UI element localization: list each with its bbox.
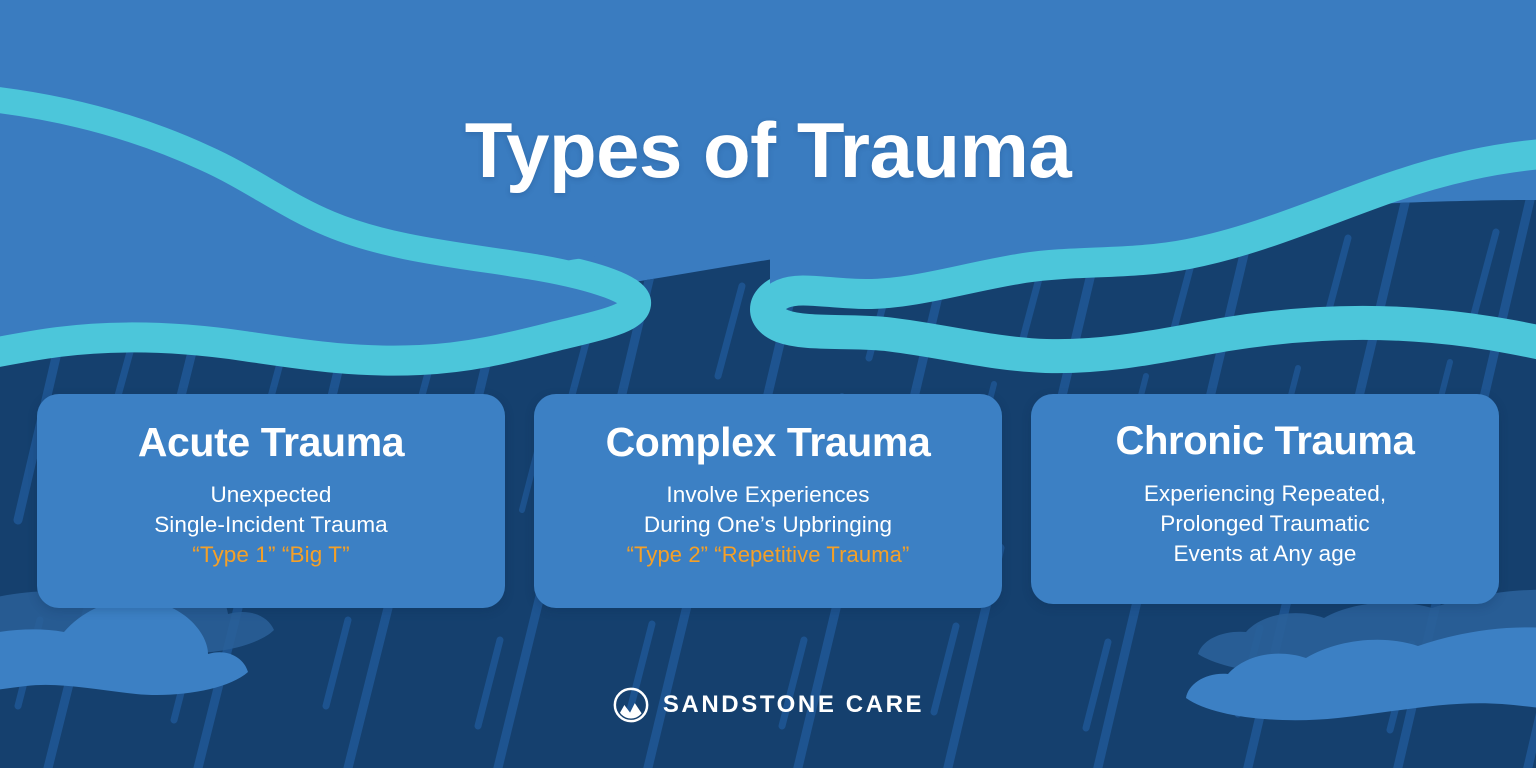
card-line: Events at Any age	[1047, 539, 1483, 569]
card-chronic-trauma: Chronic Trauma Experiencing Repeated, Pr…	[1031, 394, 1499, 604]
card-line: Experiencing Repeated,	[1047, 479, 1483, 509]
card-line: Unexpected	[53, 480, 489, 510]
card-acute-trauma: Acute Trauma Unexpected Single-Incident …	[37, 394, 505, 608]
infographic-canvas: Types of Trauma Acute Trauma Unexpected …	[0, 0, 1536, 768]
card-title: Complex Trauma	[550, 420, 986, 464]
brand-logo: SANDSTONE CARE	[0, 686, 1536, 724]
brand-name: SANDSTONE CARE	[663, 693, 924, 717]
card-line-accent: “Type 1” “Big T”	[53, 540, 489, 570]
card-line: During One’s Upbringing	[550, 510, 986, 540]
card-line-accent: “Type 2” “Repetitive Trauma”	[550, 540, 986, 569]
card-complex-trauma: Complex Trauma Involve Experiences Durin…	[534, 394, 1002, 608]
page-title: Types of Trauma	[0, 110, 1536, 192]
card-line: Single-Incident Trauma	[53, 510, 489, 540]
card-line: Involve Experiences	[550, 480, 986, 510]
card-title: Acute Trauma	[53, 420, 489, 464]
card-line: Prolonged Traumatic	[1047, 509, 1483, 539]
mountain-circle-icon	[612, 686, 650, 724]
trauma-type-card-row: Acute Trauma Unexpected Single-Incident …	[37, 394, 1499, 610]
card-title: Chronic Trauma	[1047, 420, 1483, 463]
